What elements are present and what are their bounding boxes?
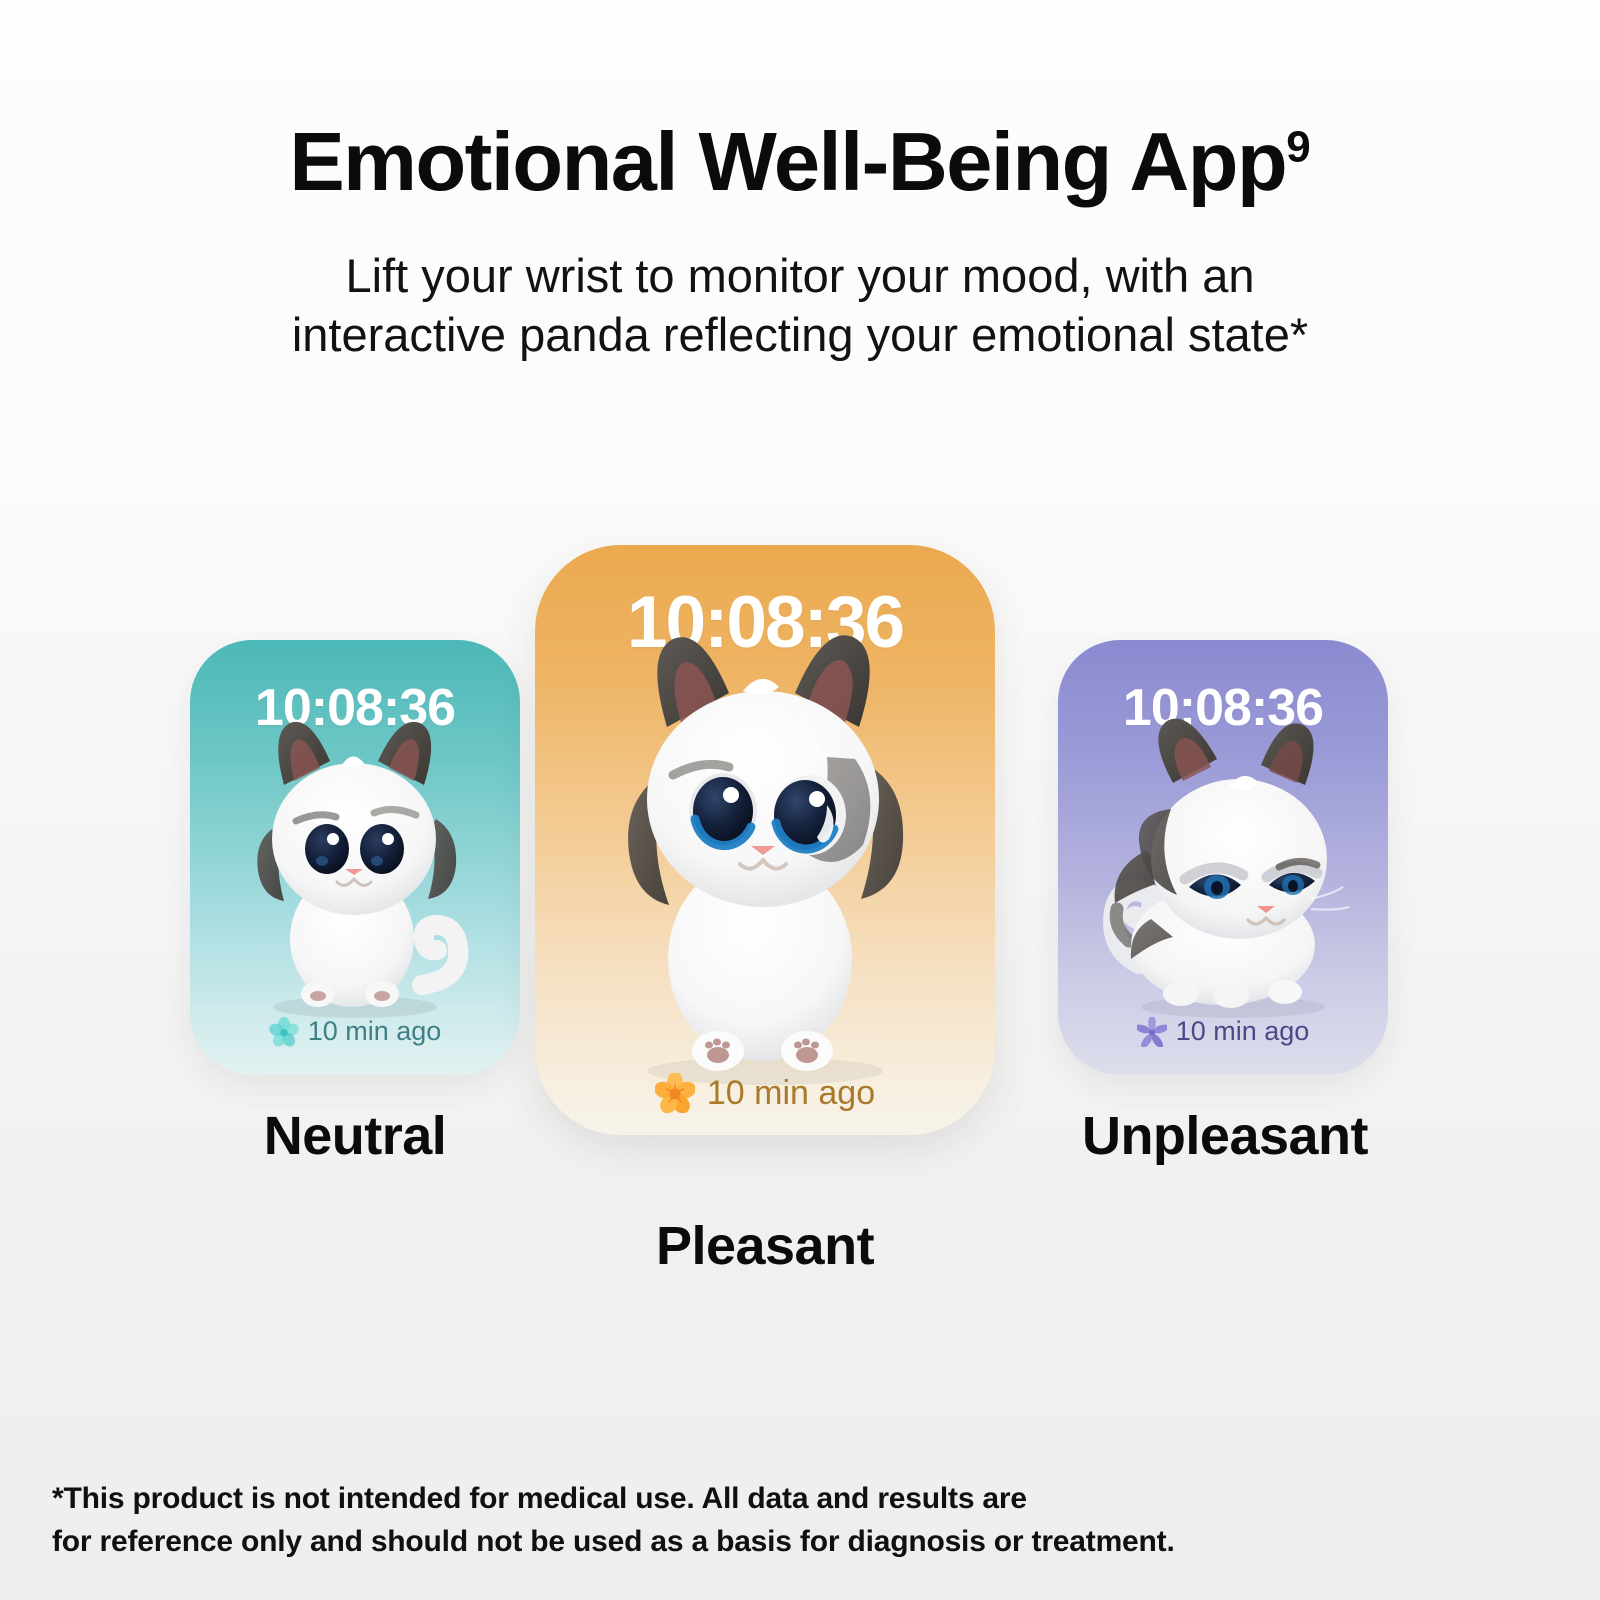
last-updated-pleasant: 10 min ago <box>707 1074 875 1113</box>
disclaimer: *This product is not intended for medica… <box>52 1478 1512 1563</box>
unpleasant-cat-icon <box>1073 701 1373 1021</box>
orange-flower-icon <box>655 1073 695 1113</box>
last-updated-neutral: 10 min ago <box>308 1016 442 1047</box>
page-title: Emotional Well-Being App9 <box>0 118 1600 205</box>
disclaimer-line-1: *This product is not intended for medica… <box>52 1478 1512 1521</box>
page-subtitle: Lift your wrist to monitor your mood, wi… <box>0 247 1600 365</box>
purple-flower-icon <box>1137 1017 1167 1047</box>
mood-label-unpleasant: Unpleasant <box>1020 1105 1430 1167</box>
last-updated-unpleasant: 10 min ago <box>1176 1016 1310 1047</box>
mood-card-row: 10:08:36 <box>0 545 1600 1165</box>
neutral-cat-icon <box>210 689 500 1019</box>
mood-label-pleasant: Pleasant <box>520 1215 1010 1277</box>
status-row-unpleasant: 10 min ago <box>1058 1016 1388 1047</box>
mood-card-neutral[interactable]: 10:08:36 <box>190 640 520 1075</box>
teal-flower-icon <box>269 1017 299 1047</box>
page-title-text: Emotional Well-Being App <box>289 115 1286 208</box>
subtitle-line-2: interactive panda reflecting your emotio… <box>0 306 1600 365</box>
mood-card-pleasant[interactable]: 10:08:36 <box>535 545 995 1135</box>
status-row-neutral: 10 min ago <box>190 1016 520 1047</box>
disclaimer-line-2: for reference only and should not be use… <box>52 1521 1512 1564</box>
header: Emotional Well-Being App9 Lift your wris… <box>0 0 1600 365</box>
mood-label-neutral: Neutral <box>180 1105 530 1167</box>
subtitle-line-1: Lift your wrist to monitor your mood, wi… <box>0 247 1600 306</box>
page-title-superscript: 9 <box>1286 122 1310 171</box>
mood-card-unpleasant[interactable]: 10:08:36 <box>1058 640 1388 1075</box>
pleasant-cat-icon <box>555 619 975 1089</box>
status-row-pleasant: 10 min ago <box>535 1073 995 1113</box>
